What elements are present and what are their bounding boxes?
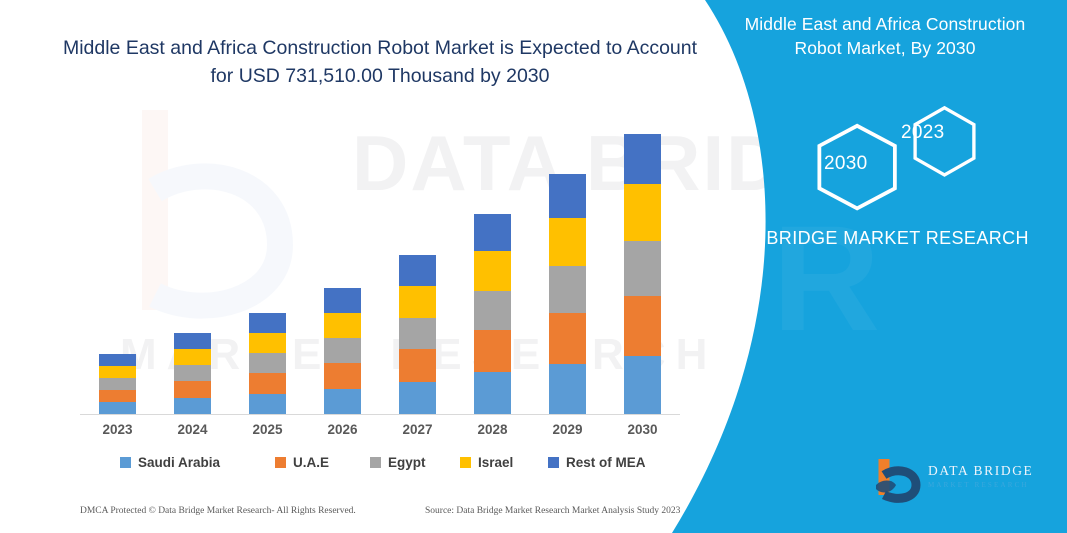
logo-wordmark: DATA BRIDGE — [928, 463, 1033, 479]
logo-b-icon — [872, 455, 924, 505]
bar-segment-2025-rest-of-mea[interactable] — [249, 313, 286, 333]
bar-segment-2024-rest-of-mea[interactable] — [174, 333, 211, 349]
legend-swatch-icon — [275, 457, 286, 468]
bar-segment-2030-israel[interactable] — [624, 184, 661, 241]
legend-item-saudi-arabia[interactable]: Saudi Arabia — [120, 455, 220, 470]
bar-segment-2028-u-a-e[interactable] — [474, 330, 511, 372]
bar-2027[interactable] — [399, 255, 436, 414]
bar-segment-2025-israel[interactable] — [249, 333, 286, 353]
x-axis-label-2026: 2026 — [313, 422, 373, 437]
legend-item-rest-of-mea[interactable]: Rest of MEA — [548, 455, 646, 470]
x-axis-label-2029: 2029 — [538, 422, 598, 437]
bar-segment-2030-u-a-e[interactable] — [624, 296, 661, 356]
legend-label: Israel — [478, 455, 513, 470]
bar-segment-2026-rest-of-mea[interactable] — [324, 288, 361, 313]
bar-segment-2023-israel[interactable] — [99, 366, 136, 378]
panel-title: Middle East and Africa Construction Robo… — [725, 12, 1045, 60]
bar-segment-2030-rest-of-mea[interactable] — [624, 134, 661, 184]
legend-item-israel[interactable]: Israel — [460, 455, 513, 470]
bar-segment-2029-israel[interactable] — [549, 218, 586, 266]
bar-segment-2026-u-a-e[interactable] — [324, 363, 361, 389]
bar-chart-plot — [80, 100, 680, 415]
bar-segment-2024-saudi-arabia[interactable] — [174, 398, 211, 414]
bar-segment-2024-u-a-e[interactable] — [174, 381, 211, 398]
bar-segment-2028-israel[interactable] — [474, 251, 511, 291]
bar-segment-2023-u-a-e[interactable] — [99, 390, 136, 402]
legend-swatch-icon — [370, 457, 381, 468]
infographic-root: DATA BRIDGE MARKET RESEARCH Middle East … — [0, 0, 1067, 533]
legend-swatch-icon — [120, 457, 131, 468]
x-axis-label-2030: 2030 — [613, 422, 673, 437]
bar-segment-2023-rest-of-mea[interactable] — [99, 354, 136, 366]
bar-segment-2024-egypt[interactable] — [174, 365, 211, 381]
x-axis-label-2027: 2027 — [388, 422, 448, 437]
bar-2030[interactable] — [624, 134, 661, 414]
footer-copyright: DMCA Protected © Data Bridge Market Rese… — [80, 506, 356, 516]
bar-segment-2026-egypt[interactable] — [324, 338, 361, 363]
hexagon-group: 2030 2023 — [707, 100, 1037, 220]
bar-segment-2025-saudi-arabia[interactable] — [249, 394, 286, 414]
bar-segment-2029-saudi-arabia[interactable] — [549, 364, 586, 414]
panel-brand-text: DATA BRIDGE MARKET RESEARCH — [707, 225, 1037, 252]
bar-segment-2028-saudi-arabia[interactable] — [474, 372, 511, 414]
bar-segment-2028-rest-of-mea[interactable] — [474, 214, 511, 251]
bar-2025[interactable] — [249, 313, 286, 414]
data-bridge-logo: DATA BRIDGE MARKET RESEARCH — [872, 455, 1047, 507]
bar-segment-2024-israel[interactable] — [174, 349, 211, 365]
x-axis-label-2028: 2028 — [463, 422, 523, 437]
bar-segment-2029-u-a-e[interactable] — [549, 313, 586, 364]
bar-2028[interactable] — [474, 214, 511, 414]
page-title: Middle East and Africa Construction Robo… — [60, 34, 700, 91]
chart-legend: Saudi ArabiaU.A.EEgyptIsraelRest of MEA — [120, 452, 660, 476]
bar-segment-2023-egypt[interactable] — [99, 378, 136, 390]
bar-2029[interactable] — [549, 174, 586, 414]
bar-segment-2027-rest-of-mea[interactable] — [399, 255, 436, 286]
bar-segment-2030-egypt[interactable] — [624, 241, 661, 296]
bar-segment-2025-egypt[interactable] — [249, 353, 286, 373]
hexagon-2030-label: 2030 — [824, 153, 867, 175]
legend-swatch-icon — [460, 457, 471, 468]
footer-source: Source: Data Bridge Market Research Mark… — [425, 506, 680, 516]
legend-label: U.A.E — [293, 455, 329, 470]
bar-segment-2028-egypt[interactable] — [474, 291, 511, 330]
bar-segment-2029-rest-of-mea[interactable] — [549, 174, 586, 218]
x-axis-label-2023: 2023 — [88, 422, 148, 437]
x-axis-line — [80, 414, 680, 415]
bar-segment-2027-saudi-arabia[interactable] — [399, 382, 436, 414]
logo-tagline: MARKET RESEARCH — [928, 481, 1029, 489]
x-axis-labels: 20232024202520262027202820292030 — [80, 422, 680, 444]
legend-item-egypt[interactable]: Egypt — [370, 455, 426, 470]
bar-segment-2027-egypt[interactable] — [399, 318, 436, 349]
bar-segment-2029-egypt[interactable] — [549, 266, 586, 313]
hexagon-2023-label: 2023 — [901, 122, 944, 144]
bar-segment-2030-saudi-arabia[interactable] — [624, 356, 661, 414]
legend-swatch-icon — [548, 457, 559, 468]
x-axis-label-2024: 2024 — [163, 422, 223, 437]
bar-2023[interactable] — [99, 354, 136, 414]
bar-segment-2023-saudi-arabia[interactable] — [99, 402, 136, 414]
bar-2026[interactable] — [324, 288, 361, 414]
legend-label: Rest of MEA — [566, 455, 646, 470]
bar-segment-2027-u-a-e[interactable] — [399, 349, 436, 382]
bar-segment-2027-israel[interactable] — [399, 286, 436, 318]
bar-segment-2026-israel[interactable] — [324, 313, 361, 338]
bar-segment-2026-saudi-arabia[interactable] — [324, 389, 361, 414]
bar-2024[interactable] — [174, 333, 211, 414]
footer: DMCA Protected © Data Bridge Market Rese… — [80, 506, 690, 522]
legend-item-u-a-e[interactable]: U.A.E — [275, 455, 329, 470]
x-axis-label-2025: 2025 — [238, 422, 298, 437]
legend-label: Egypt — [388, 455, 426, 470]
legend-label: Saudi Arabia — [138, 455, 220, 470]
right-brand-panel: R Middle East and Africa Construction Ro… — [667, 0, 1067, 533]
bar-segment-2025-u-a-e[interactable] — [249, 373, 286, 394]
